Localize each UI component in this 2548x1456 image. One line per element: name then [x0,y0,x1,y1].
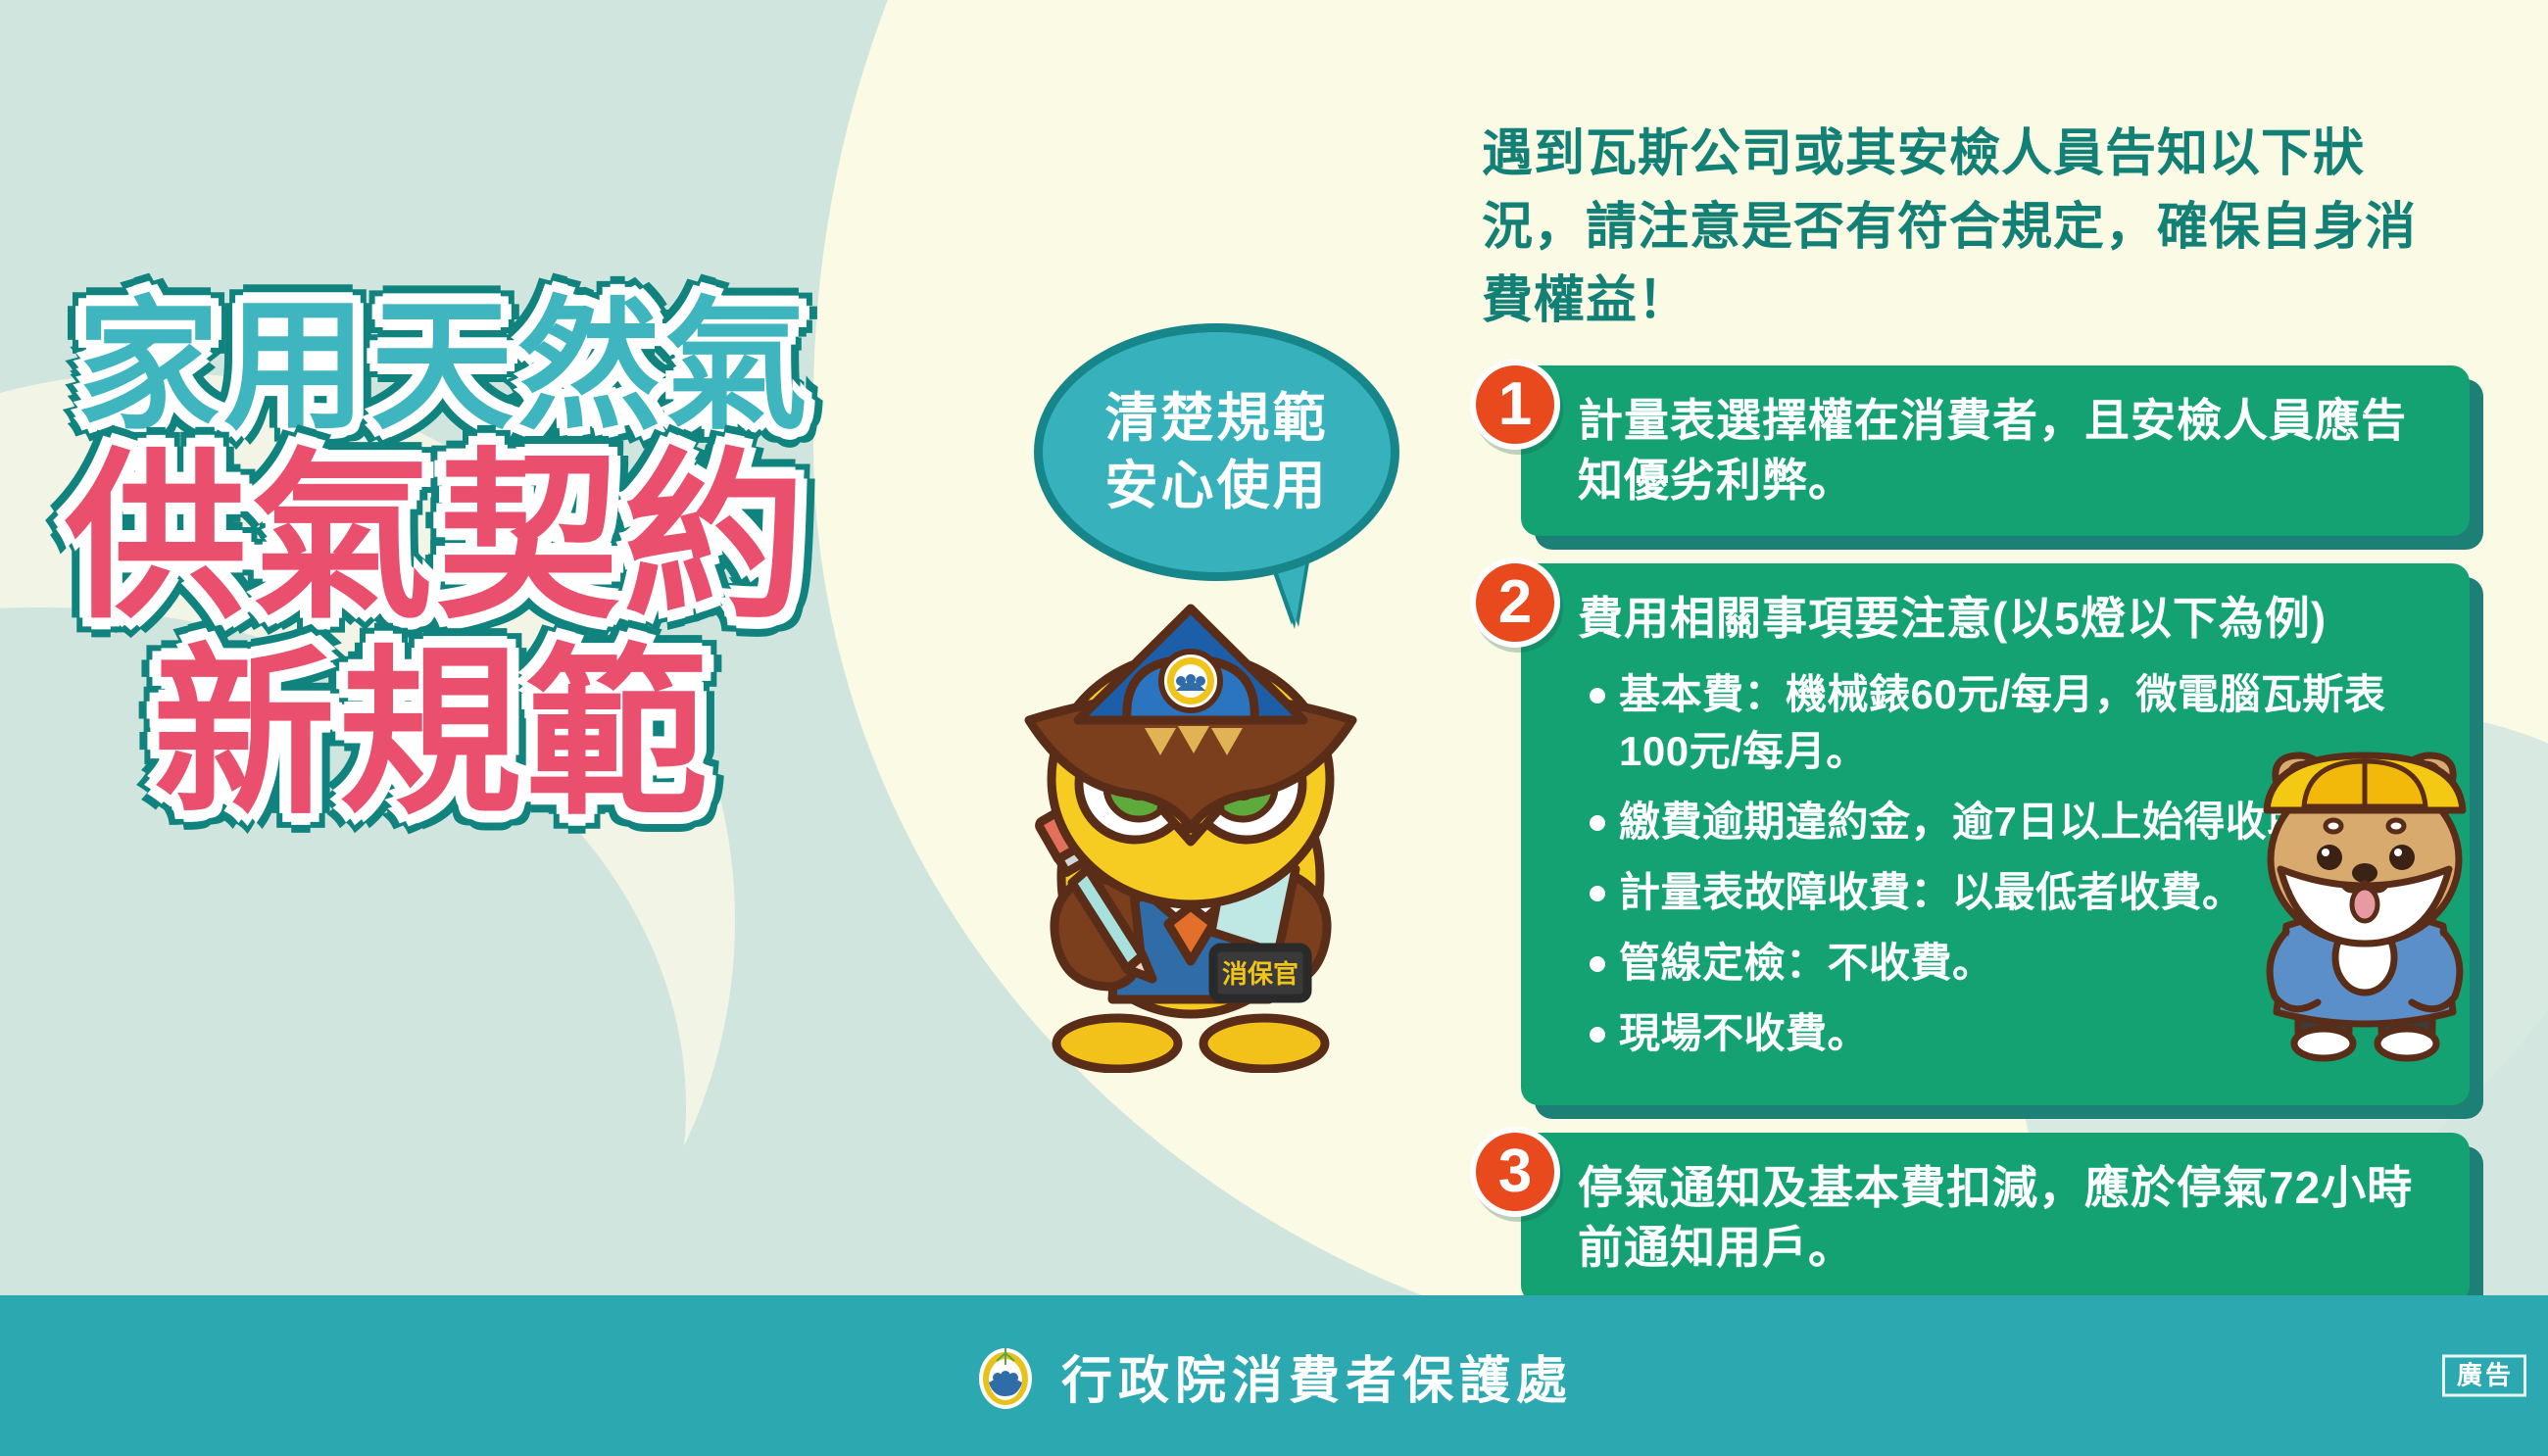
footer-org-name: 行政院消費者保護處 [1061,1339,1573,1413]
list-item: 1 計量表選擇權在消費者，且安檢人員應告知優劣利弊。 [1470,365,2470,536]
footer-bar: 行政院消費者保護處 廣告 [0,1295,2548,1456]
intro-paragraph: 遇到瓦斯公司或其安檢人員告知以下狀況，請注意是否有符合規定，確保自身消費權益！ [1482,118,2432,338]
list-item: 3 停氣通知及基本費扣減，應於停氣72小時前通知用戶。 [1470,1133,2470,1303]
ad-badge: 廣告 [2442,1355,2526,1397]
page-title: 家用天然氣 供氣契約 新規範 [69,294,1029,827]
title-line-1: 家用天然氣 [76,294,1029,440]
item-box: 停氣通知及基本費扣減，應於停氣72小時前通知用戶。 [1521,1133,2470,1303]
speech-bubble-line-1: 清楚規範 [1105,385,1329,452]
owl-badge-text: 消保官 [1222,959,1298,989]
item-number-badge: 2 [1470,558,1560,648]
item-box: 計量表選擇權在消費者，且安檢人員應告知優劣利弊。 [1521,365,2470,536]
item-text: 費用相關事項要注意(以5燈以下為例) [1578,589,2436,649]
item-number-badge: 3 [1470,1127,1560,1217]
item-number-badge: 1 [1470,360,1560,450]
item-text: 計量表選擇權在消費者，且安檢人員應告知優劣利弊。 [1578,391,2436,510]
speech-bubble: 清楚規範 安心使用 [1034,323,1399,581]
content-column: 遇到瓦斯公司或其安檢人員告知以下狀況，請注意是否有符合規定，確保自身消費權益！ … [1470,118,2470,1331]
government-logo-icon [975,1339,1036,1412]
dog-mascot-icon [2239,750,2509,1063]
item-text: 停氣通知及基本費扣減，應於停氣72小時前通知用戶。 [1578,1158,2436,1278]
dog-mascot [2239,750,2509,1063]
owl-mascot-icon: 消保官 [970,583,1411,1073]
title-line-3: 新規範 [153,642,1029,828]
owl-mascot: 消保官 [970,583,1411,1073]
poster-root: 家用天然氣 供氣契約 新規範 清楚規範 安心使用 [0,0,2548,1456]
speech-bubble-line-2: 安心使用 [1105,453,1329,519]
title-line-2: 供氣契約 [65,446,1029,632]
footer-branding: 行政院消費者保護處 [975,1339,1573,1413]
